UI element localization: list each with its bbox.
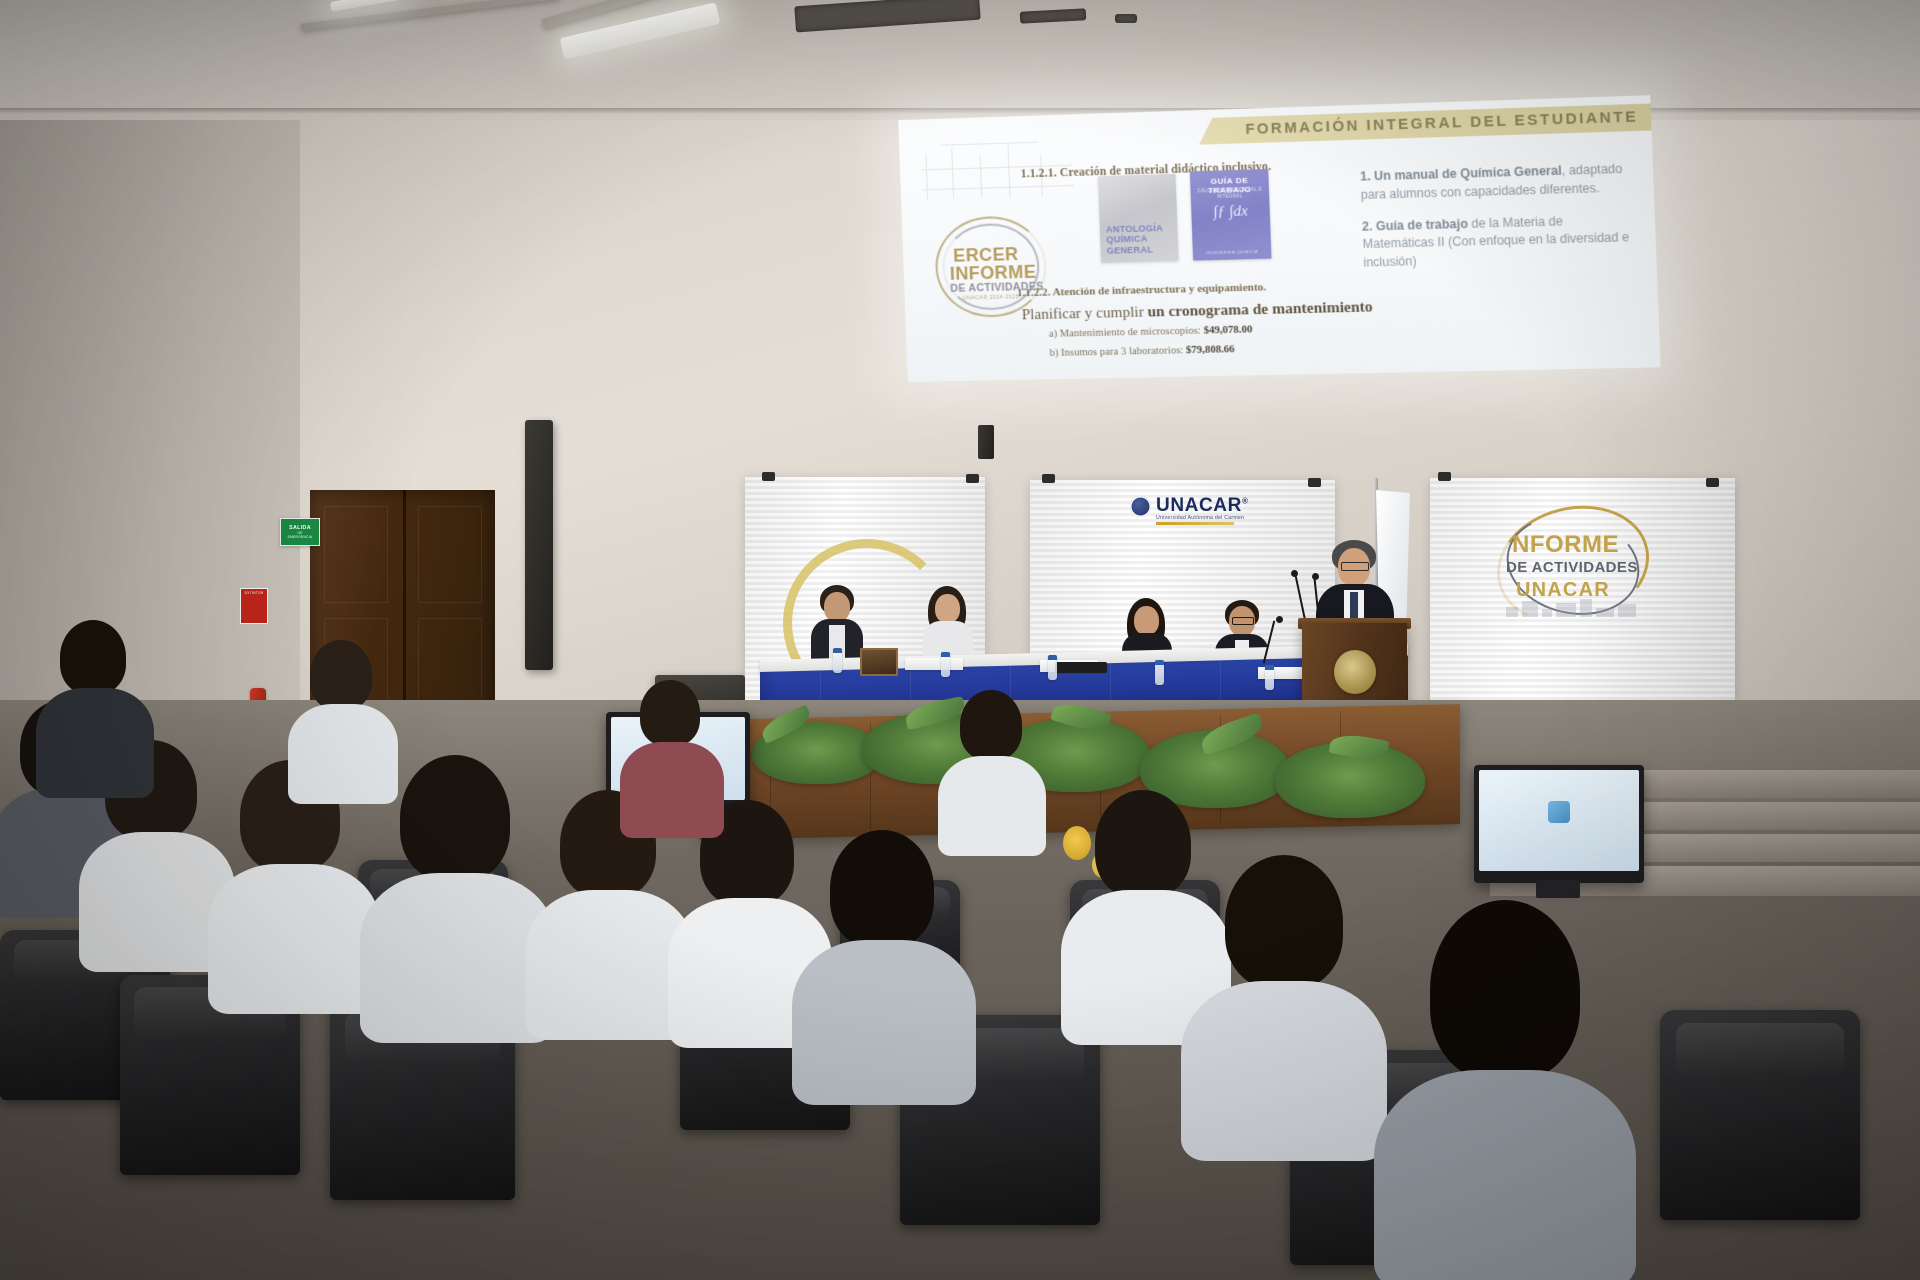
book-b-footer: INGENIERÍA QUÍMICA (1193, 248, 1272, 255)
informe-badge-line-2: DE ACTIVIDADES (1506, 559, 1638, 576)
water-bottle (1155, 660, 1164, 685)
banner-clamp (966, 474, 979, 483)
table-award-plaque (860, 648, 898, 676)
banner-clamp (1438, 472, 1451, 481)
book-cover-guia: GUÍA DE TRABAJO CÁLCULO DIFERENCIAL E IN… (1190, 169, 1272, 261)
cost-amount: $79,808.66 (1186, 344, 1235, 356)
table-nameplate (905, 658, 963, 670)
slide-headline: Planificar y cumplir un cronograma de ma… (1022, 296, 1509, 324)
audience-chair (1660, 1010, 1860, 1220)
unacar-gold-rule (1156, 522, 1234, 525)
water-bottle (1048, 655, 1057, 680)
sunflower (1063, 826, 1091, 860)
unacar-subtitle: Universidad Autónoma del Carmen (1156, 515, 1244, 521)
banner-clamp (762, 472, 775, 481)
cost-amount: $49,078.00 (1203, 324, 1252, 336)
eyeglasses-icon (1341, 562, 1369, 571)
informe-badge-skyline (1506, 599, 1638, 617)
banner-clamp (1308, 478, 1321, 487)
screen-logo-icon (1548, 801, 1570, 823)
monitor-stand (1536, 880, 1580, 898)
water-bottle (941, 652, 950, 677)
exit-sign: SALIDA DE EMERGENCIA (280, 518, 320, 546)
panelist-head (935, 594, 960, 623)
book-b-formula: ∫ƒ ∫dx (1191, 204, 1270, 222)
informe-badge-logo: NFORME DE ACTIVIDADES UNACAR (1490, 503, 1660, 623)
projected-slide: EJE ESTRATÉGICO FORMACIÓN INTEGRAL DEL E… (898, 95, 1660, 382)
exit-sign-line-3: EMERGENCIA (288, 535, 313, 539)
water-bottle (1265, 665, 1274, 690)
eyeglasses-icon (1232, 617, 1254, 625)
slide-bullet-item: 2. Guía de trabajo de la Materia de Mate… (1362, 210, 1638, 272)
confidence-monitor-right (1474, 765, 1644, 883)
slide-banner-title: FORMACIÓN INTEGRAL DEL ESTUDIANTE (1245, 109, 1638, 138)
microphone-head-icon (1312, 573, 1319, 580)
fire-sign-label: EXTINTOR (245, 591, 264, 595)
panelist-head (824, 592, 850, 622)
slide-cost-row: a) Mantenimiento de microscopios: $49,07… (1049, 324, 1253, 340)
water-bottle (833, 648, 842, 673)
cost-label: b) Insumos para 3 laboratorios: (1049, 345, 1186, 359)
microphone-head-icon (1291, 570, 1298, 577)
bullet-number: 1. (1360, 169, 1371, 184)
wall-speaker (525, 420, 553, 670)
table-laptop (1055, 662, 1107, 673)
bullet-lead: Guía de trabajo (1376, 216, 1468, 233)
book-cover-antologia: ANTOLOGÍA QUÍMICA GENERAL (1098, 174, 1179, 263)
auditorium-scene: EJE ESTRATÉGICO FORMACIÓN INTEGRAL DEL E… (0, 0, 1920, 1280)
slide-cost-row: b) Insumos para 3 laboratorios: $79,808.… (1049, 344, 1235, 359)
ceiling-vent (1115, 14, 1137, 23)
bullet-lead: Un manual de Química General (1374, 163, 1562, 183)
book-a-title: ANTOLOGÍA QUÍMICA GENERAL (1106, 222, 1179, 255)
headline-normal: Planificar y cumplir (1022, 304, 1148, 323)
cost-label: a) Mantenimiento de microscopios: (1049, 325, 1204, 339)
book-b-subtitle: CÁLCULO DIFERENCIAL E INTEGRAL (1190, 186, 1269, 200)
headline-bold: un cronograma de mantenimiento (1147, 299, 1373, 320)
panelist-head (1134, 606, 1159, 635)
slide-bullet-list: 1. Un manual de Química General, adaptad… (1360, 160, 1638, 286)
unacar-brand-text: UNACAR® (1156, 495, 1248, 517)
microphone-head-icon (1276, 616, 1283, 623)
registered-icon: ® (1242, 497, 1249, 506)
bullet-number: 2. (1362, 219, 1373, 234)
podium-seal-icon (1334, 650, 1376, 694)
unacar-seal-icon (1130, 496, 1151, 517)
informe-badge-line-1: NFORME (1512, 531, 1619, 559)
fire-extinguisher-sign: EXTINTOR (240, 588, 268, 624)
unacar-logo: UNACAR® Universidad Autónoma del Carmen (1130, 495, 1248, 517)
slide-title-banner: EJE ESTRATÉGICO FORMACIÓN INTEGRAL DEL E… (1198, 104, 1651, 145)
slide-bullet-item: 1. Un manual de Química General, adaptad… (1360, 160, 1635, 204)
monitor-screen (1479, 770, 1639, 871)
banner-clamp (1042, 474, 1055, 483)
banner-clamp (1706, 478, 1719, 487)
tercer-informe-logo: ERCER INFORME DE ACTIVIDADES UNACAR 2024… (930, 211, 1053, 322)
wall-control-box[interactable] (978, 425, 994, 459)
slide-section-2: 1.1.2.2. Atención de infraestructura y e… (1017, 278, 1388, 299)
